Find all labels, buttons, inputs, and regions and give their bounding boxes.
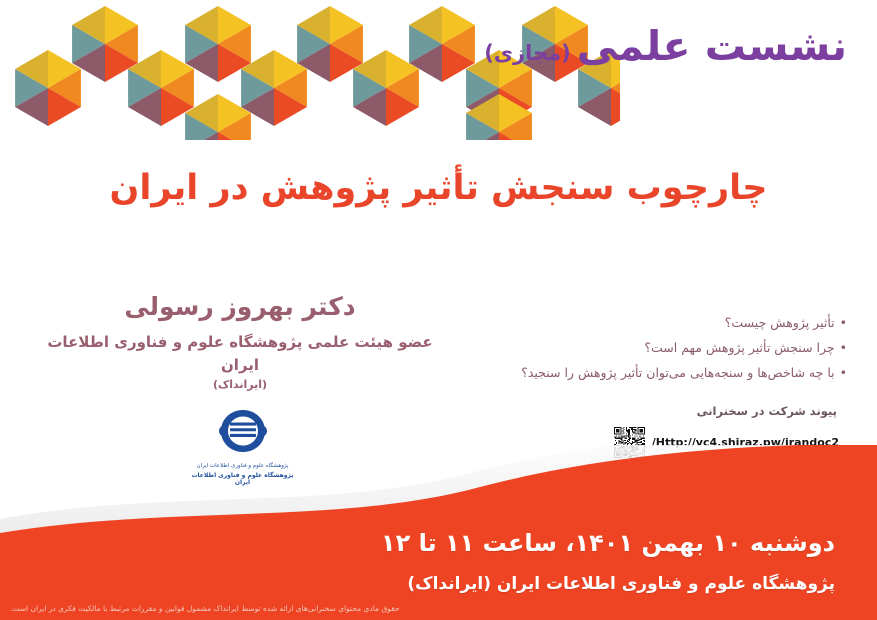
poster-canvas: نشست علمی(مجازی) چارچوب سنجش تأثیر پژوهش… bbox=[0, 0, 877, 620]
list-item: •تأثیر پژوهش چیست؟ bbox=[521, 310, 847, 335]
kicker-paren-text: (مجازی) bbox=[484, 41, 571, 65]
bullet-icon: • bbox=[840, 310, 847, 335]
event-kicker: نشست علمی(مجازی) bbox=[484, 22, 847, 70]
event-venue: پژوهشگاه علوم و فناوری اطلاعات ایران (ای… bbox=[407, 574, 835, 594]
list-item-label: چرا سنجش تأثیر پژوهش مهم است؟ bbox=[644, 340, 834, 355]
page-title: چارچوب سنجش تأثیر پژوهش در ایران bbox=[0, 168, 877, 208]
topics-list: •تأثیر پژوهش چیست؟ •چرا سنجش تأثیر پژوهش… bbox=[521, 310, 847, 385]
kicker-main-text: نشست علمی bbox=[577, 22, 847, 70]
speaker-block: دکتر بهروز رسولی عضو هیئت علمی پژوهشگاه … bbox=[40, 292, 440, 391]
bullet-icon: • bbox=[840, 360, 847, 385]
hexagon-pattern-decoration bbox=[0, 0, 620, 140]
speaker-affiliation: عضو هیئت علمی پژوهشگاه علوم و فناوری اطل… bbox=[40, 331, 440, 376]
list-item-label: با چه شاخص‌ها و سنجه‌هایی می‌توان تأثیر … bbox=[521, 365, 834, 380]
speaker-affiliation-short: (ایرانداک) bbox=[40, 378, 440, 391]
speaker-name: دکتر بهروز رسولی bbox=[40, 292, 440, 321]
event-datetime: دوشنبه ۱۰ بهمن ۱۴۰۱، ساعت ۱۱ تا ۱۲ bbox=[381, 529, 835, 557]
list-item: •چرا سنجش تأثیر پژوهش مهم است؟ bbox=[521, 335, 847, 360]
list-item: •با چه شاخص‌ها و سنجه‌هایی می‌توان تأثیر… bbox=[521, 360, 847, 385]
bullet-icon: • bbox=[840, 335, 847, 360]
list-item-label: تأثیر پژوهش چیست؟ bbox=[725, 315, 835, 330]
meeting-link-label: پیوند شرکت در سخنرانی bbox=[614, 404, 839, 418]
copyright-disclaimer: حقوق مادی محتوای سخنرانی‌های ارائه شده ت… bbox=[10, 604, 400, 613]
